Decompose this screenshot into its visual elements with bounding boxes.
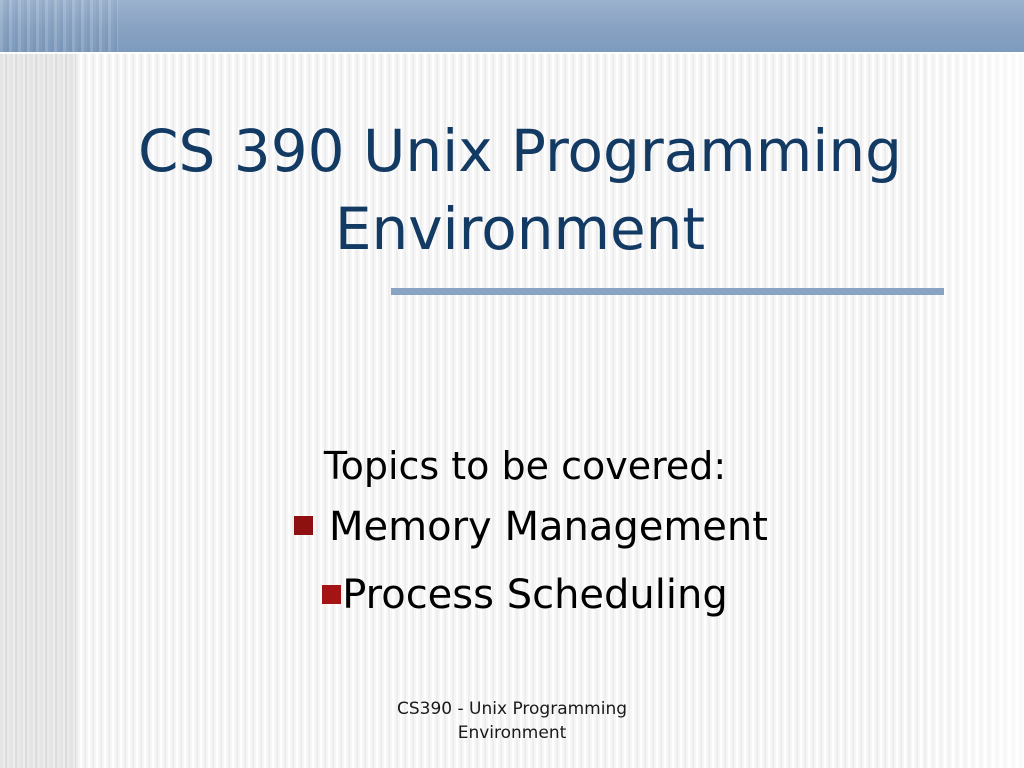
- list-item: Process Scheduling: [0, 560, 1024, 628]
- header-band-stripe-accent: [0, 0, 118, 52]
- footer-text: CS390 - Unix Programming Environment: [0, 697, 1024, 745]
- list-item-label: Process Scheduling: [342, 562, 728, 628]
- title-block: CS 390 Unix Programming Environment: [80, 112, 960, 268]
- square-bullet-icon: [322, 585, 341, 604]
- slide-title: CS 390 Unix Programming Environment: [80, 112, 960, 268]
- footer-block: CS390 - Unix Programming Environment: [0, 697, 1024, 745]
- background-stripes-left-accent: [0, 0, 76, 768]
- square-bullet-icon: [294, 516, 313, 535]
- list-item: Memory Management: [0, 492, 1024, 560]
- header-band: [0, 0, 1024, 52]
- slide-canvas: CS 390 Unix Programming Environment Topi…: [0, 0, 1024, 768]
- topics-lead-text: Topics to be covered:: [0, 440, 1024, 492]
- list-item-label: Memory Management: [329, 494, 768, 560]
- header-band-bottom-edge: [0, 52, 1024, 54]
- body-block: Topics to be covered: Memory Management …: [0, 440, 1024, 628]
- title-divider-rule: [391, 288, 944, 295]
